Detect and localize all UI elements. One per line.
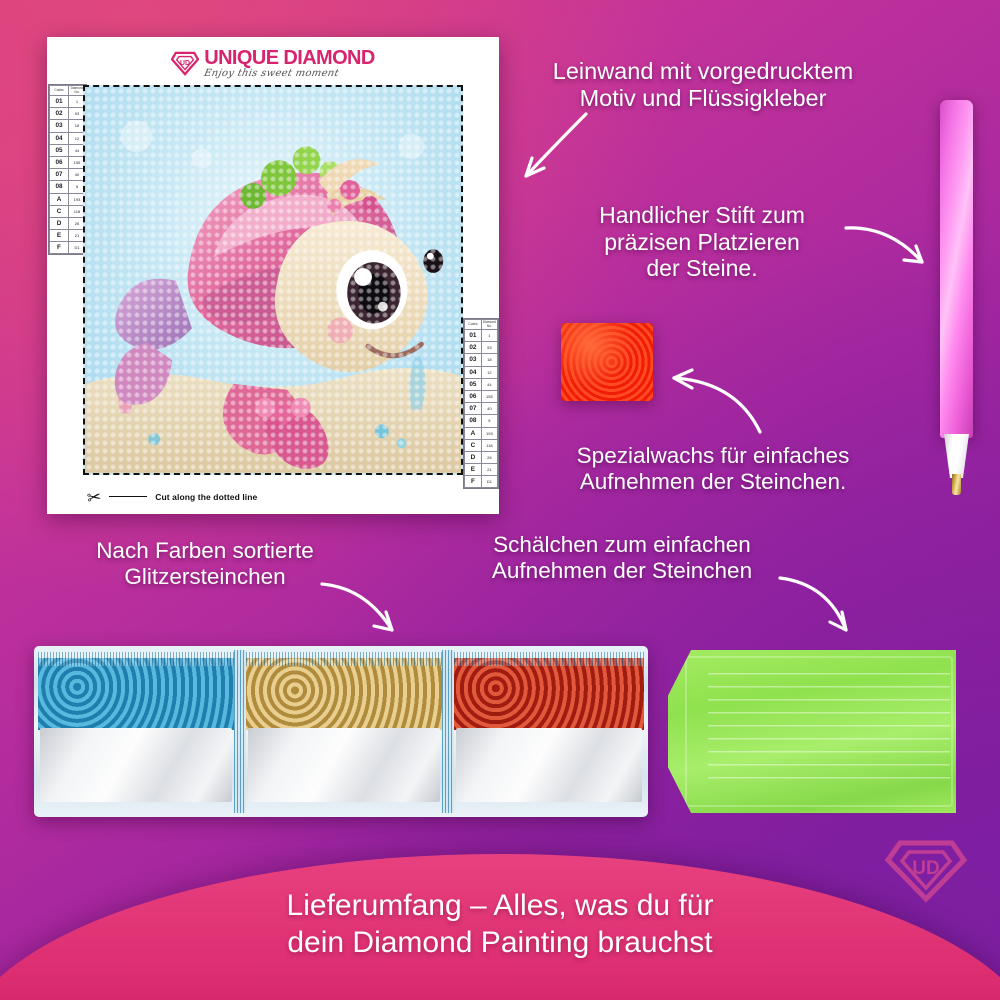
legend-count: 40 (481, 403, 497, 415)
brand-name: UNIQUE DIAMOND (204, 48, 375, 68)
bag-red (454, 650, 644, 813)
banner-line-2: dein Diamond Painting brauchst (0, 925, 1000, 962)
arrow-to-wax (664, 358, 764, 442)
product-infographic: UD UNIQUE DIAMOND Enjoy this sweet momen… (0, 0, 1000, 1000)
special-wax-block (561, 323, 653, 401)
legend-code: C (50, 205, 69, 217)
bag-blue (38, 650, 234, 813)
bottom-banner: Lieferumfang – Alles, was du für dein Di… (0, 854, 1000, 1000)
legend-count: 5 (481, 415, 497, 427)
legend-row: 0293 (50, 108, 86, 120)
label-tray: Schälchen zum einfachenAufnehmen der Ste… (452, 532, 792, 584)
legend-row: 0412 (465, 366, 498, 378)
bag-foil-label (456, 728, 642, 802)
legend-table: Codes Diamond No. 0110293031804120544061… (464, 319, 498, 488)
legend-table: Codes Diamond No. 0110293031804120544061… (49, 85, 86, 254)
legend-count: 44 (481, 378, 497, 390)
legend-code: 07 (50, 169, 69, 181)
legend-code: E (465, 464, 482, 476)
label-pen: Handlicher Stift zumpräzisen Platzierend… (552, 202, 852, 282)
legend-code: 08 (465, 415, 482, 427)
cut-instruction-text: Cut along the dotted line (155, 492, 257, 502)
label-beads: Nach Farben sortierteGlitzersteinchen (55, 538, 355, 590)
legend-header-count: Diamond No. (481, 320, 497, 330)
legend-row: 0740 (50, 169, 86, 181)
cut-line-dash (109, 496, 147, 498)
label-canvas: Leinwand mit vorgedrucktemMotiv und Flüs… (508, 58, 898, 113)
legend-code: 05 (50, 144, 69, 156)
legend-row: 06155 (465, 390, 498, 402)
legend-code: D (50, 217, 69, 229)
red-rhinestones (454, 658, 644, 730)
legend-count: 26 (481, 451, 497, 463)
legend-code: 02 (50, 108, 69, 120)
legend-row: 085 (50, 181, 86, 193)
legend-row: FD1 (50, 242, 86, 254)
legend-code: F (50, 242, 69, 254)
legend-header-code: Codes (465, 320, 482, 330)
arrow-to-canvas (500, 108, 590, 203)
legend-row: E21 (465, 464, 498, 476)
turtle-mosaic-artwork (83, 85, 463, 475)
legend-code: 04 (465, 366, 482, 378)
svg-text:UD: UD (180, 59, 190, 66)
legend-body: 0110293031804120544061550740085A193C118D… (50, 96, 86, 254)
legend-count: 155 (481, 390, 497, 402)
printed-canvas-sheet: UD UNIQUE DIAMOND Enjoy this sweet momen… (47, 37, 499, 514)
legend-row: C118 (50, 205, 86, 217)
bag-gold (246, 650, 442, 813)
legend-code: 01 (50, 96, 69, 108)
bag-zip-seal (454, 652, 644, 666)
arrow-to-pen (842, 218, 934, 280)
color-sorted-rhinestone-bags (34, 646, 648, 817)
legend-row: D26 (465, 451, 498, 463)
green-pickup-tray (668, 650, 956, 813)
legend-code: 03 (465, 354, 482, 366)
gold-rhinestones (246, 658, 442, 730)
svg-text:UD: UD (912, 858, 939, 879)
legend-code: 07 (465, 403, 482, 415)
legend-code: C (465, 439, 482, 451)
legend-row: 06155 (50, 156, 86, 168)
diamond-logo-icon: UD (171, 51, 199, 76)
legend-code: A (50, 193, 69, 205)
legend-code: 04 (50, 132, 69, 144)
legend-code: 02 (465, 342, 482, 354)
legend-count: 193 (481, 427, 497, 439)
legend-row: 011 (465, 330, 498, 342)
scissors-icon: ✂ (86, 488, 102, 507)
legend-row: FD1 (465, 476, 498, 488)
pen-barrel (940, 100, 973, 438)
legend-row: 011 (50, 96, 86, 108)
legend-count: 21 (481, 464, 497, 476)
pen-metal-nib (952, 474, 961, 495)
legend-count: D1 (481, 476, 497, 488)
legend-code: A (465, 427, 482, 439)
diamond-painting-pen (940, 100, 973, 495)
legend-code: E (50, 230, 69, 242)
bag-separator (234, 650, 246, 813)
legend-row: 0293 (465, 342, 498, 354)
legend-row: C118 (465, 439, 498, 451)
brand-tagline: Enjoy this sweet moment (203, 69, 340, 79)
legend-count: 18 (481, 354, 497, 366)
bag-foil-label (40, 728, 232, 802)
legend-code: 01 (465, 330, 482, 342)
legend-row: 0544 (50, 144, 86, 156)
color-legend-table-right: Codes Diamond No. 0110293031804120544061… (463, 318, 499, 489)
bag-zip-seal (38, 652, 234, 666)
legend-code: 06 (465, 390, 482, 402)
legend-row: 0740 (465, 403, 498, 415)
banner-line-1: Lieferumfang – Alles, was du für (0, 888, 1000, 925)
cut-instruction-row: ✂ Cut along the dotted line (87, 483, 457, 511)
bag-zip-seal (246, 652, 442, 666)
label-wax: Spezialwachs für einfachesAufnehmen der … (518, 443, 908, 495)
color-legend-table-left: Codes Diamond No. 0110293031804120544061… (48, 84, 87, 255)
legend-count: 12 (481, 366, 497, 378)
diamond-dot-grid-overlay (85, 87, 461, 473)
legend-row: 085 (465, 415, 498, 427)
legend-row: 0318 (465, 354, 498, 366)
legend-count: 1 (481, 330, 497, 342)
pen-white-tip (944, 434, 969, 478)
blue-rhinestones (38, 658, 234, 730)
legend-code: 08 (50, 181, 69, 193)
legend-row: 0318 (50, 120, 86, 132)
legend-code: 03 (50, 120, 69, 132)
legend-code: D (465, 451, 482, 463)
legend-row: D26 (50, 217, 86, 229)
legend-code: F (465, 476, 482, 488)
bag-separator (442, 650, 454, 813)
legend-body: 0110293031804120544061550740085A193C118D… (465, 330, 498, 488)
legend-row: 0544 (465, 378, 498, 390)
bag-foil-label (248, 728, 440, 802)
legend-code: 05 (465, 378, 482, 390)
brand-logo: UD UNIQUE DIAMOND Enjoy this sweet momen… (47, 43, 499, 83)
legend-header-code: Codes (50, 86, 69, 96)
legend-count: 118 (481, 439, 497, 451)
legend-row: A193 (50, 193, 86, 205)
legend-row: 0412 (50, 132, 86, 144)
legend-row: A193 (465, 427, 498, 439)
tray-grooves (708, 673, 950, 790)
legend-code: 06 (50, 156, 69, 168)
legend-row: E21 (50, 230, 86, 242)
legend-count: 93 (481, 342, 497, 354)
banner-text: Lieferumfang – Alles, was du für dein Di… (0, 888, 1000, 961)
